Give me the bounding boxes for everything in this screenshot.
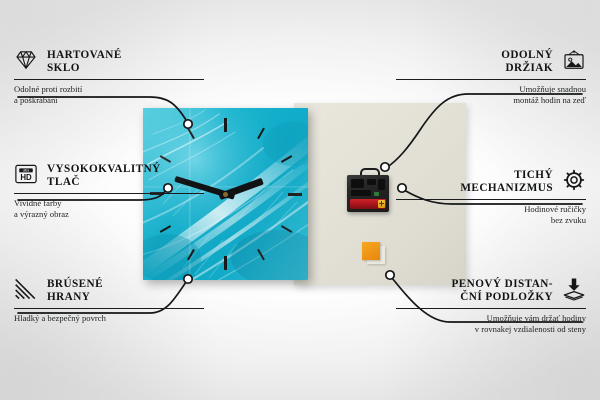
feature-header: HARTOVANÉ SKLO	[14, 48, 204, 75]
feature-subtitle: Hodinové ručičky bez zvuku	[396, 204, 586, 226]
mechanism-body	[347, 175, 389, 212]
feature-header: TICHÝ MECHANIZMUS	[396, 168, 586, 195]
feature-subtitle: Umožňuje vám držať hodiny v rovnakej vzd…	[396, 313, 586, 335]
battery-positive-terminal	[378, 200, 385, 208]
feature-odolny-drziak: ODOLNÝ DRŽIAK Umožňuje snadnou montáž ho…	[396, 48, 586, 106]
feature-subtitle: Hladký a bezpečný povrch	[14, 313, 204, 324]
feature-divider	[14, 193, 204, 194]
feature-brusene-hrany: BRÚSENÉ HRANY Hladký a bezpečný povrch	[14, 277, 204, 324]
foam-pad-front	[362, 242, 380, 260]
feature-subtitle: Umožňuje snadnou montáž hodin na zeď	[396, 84, 586, 106]
foam-distance-pad	[362, 242, 384, 263]
feature-title: BRÚSENÉ HRANY	[47, 277, 103, 304]
feature-divider	[396, 199, 586, 200]
feature-title: ODOLNÝ DRŽIAK	[501, 48, 553, 75]
feature-title: PENOVÝ DISTAN- ČNÍ PODLOŽKY	[451, 277, 553, 304]
hd-label: HD	[20, 173, 32, 182]
feature-title: TICHÝ MECHANIZMUS	[460, 168, 553, 195]
infographic-canvas: HARTOVANÉ SKLO Odolné proti rozbití a po…	[0, 0, 600, 400]
feature-tichy-mechanizmus: TICHÝ MECHANIZMUS Hodinové ručičky bez z…	[396, 168, 586, 226]
feature-divider	[14, 79, 204, 80]
feature-title: VYSOKOKVALITNÝ TLAČ	[47, 162, 161, 189]
feature-penove-distancne-podlozky: PENOVÝ DISTAN- ČNÍ PODLOŽKY Umožňuje vám…	[396, 277, 586, 335]
feature-vysokokvalitny-tlac: ultra HD VYSOKOKVALITNÝ TLAČ Vividné far…	[14, 162, 204, 220]
feature-header: PENOVÝ DISTAN- ČNÍ PODLOŽKY	[396, 277, 586, 304]
feature-subtitle: Odolné proti rozbití a poškrábání	[14, 84, 204, 106]
hatched-edge-icon	[14, 277, 38, 301]
feature-header: ODOLNÝ DRŽIAK	[396, 48, 586, 75]
feature-subtitle: Vividné farby a výrazný obraz	[14, 198, 204, 220]
feature-divider	[396, 308, 586, 309]
feature-divider	[14, 308, 204, 309]
ultra-hd-icon: ultra HD	[14, 162, 38, 186]
feature-header: BRÚSENÉ HRANY	[14, 277, 204, 304]
mechanism-battery	[350, 199, 386, 209]
gear-icon	[562, 168, 586, 192]
feature-title: HARTOVANÉ SKLO	[47, 48, 122, 75]
picture-frame-hanger-icon	[562, 48, 586, 72]
feature-hartovane-sklo: HARTOVANÉ SKLO Odolné proti rozbití a po…	[14, 48, 204, 106]
ultra-label: ultra	[23, 169, 30, 173]
clock-movement-mechanism	[347, 168, 389, 212]
diamond-icon	[14, 48, 38, 72]
feature-header: ultra HD VYSOKOKVALITNÝ TLAČ	[14, 162, 204, 189]
clock-center-pin	[223, 192, 228, 197]
arrow-onto-layers-icon	[562, 277, 586, 301]
feature-divider	[396, 79, 586, 80]
